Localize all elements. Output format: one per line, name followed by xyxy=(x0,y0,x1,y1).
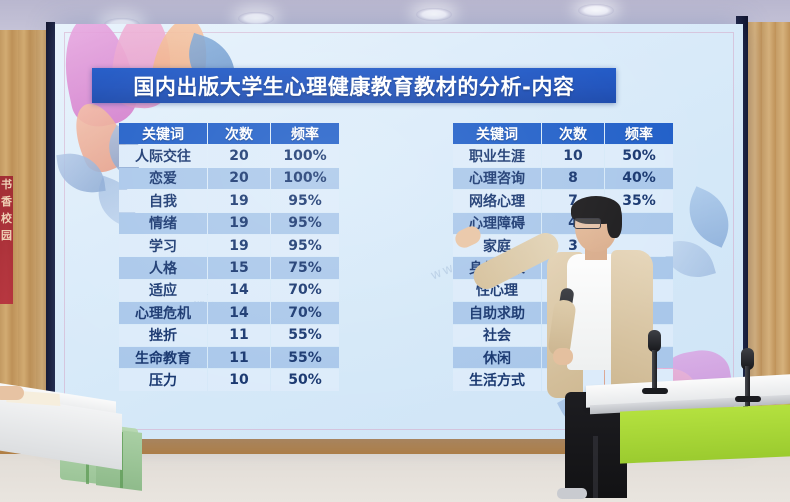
hair xyxy=(607,204,622,238)
cell-count: 20 xyxy=(208,145,270,166)
cell-frequency: 95% xyxy=(271,190,339,211)
cell-frequency: 70% xyxy=(271,280,339,301)
ceiling-light xyxy=(578,4,614,17)
table-row: 心理咨询840% xyxy=(453,168,673,189)
cell-count: 19 xyxy=(208,235,270,256)
cell-count: 8 xyxy=(542,168,604,189)
cell-frequency: 50% xyxy=(271,369,339,390)
cell-keyword: 心理咨询 xyxy=(453,168,541,189)
keyword-table-left: 关键词 次数 频率 人际交往20100%恋爱20100%自我1995%情绪199… xyxy=(118,122,340,392)
leg-split xyxy=(593,436,598,498)
cell-keyword: 人格 xyxy=(119,257,207,278)
cell-frequency: 50% xyxy=(605,145,673,166)
table-row: 学习1995% xyxy=(119,235,339,256)
table-header-row: 关键词 次数 频率 xyxy=(119,123,339,144)
glasses xyxy=(574,218,601,229)
cell-keyword: 自我 xyxy=(119,190,207,211)
cell-keyword: 挫折 xyxy=(119,325,207,346)
column-header-keyword: 关键词 xyxy=(119,123,207,144)
table-row: 适应1470% xyxy=(119,280,339,301)
cell-keyword: 人际交往 xyxy=(119,145,207,166)
cell-count: 14 xyxy=(208,302,270,323)
slide-title-text: 国内出版大学生心理健康教育教材的分析-内容 xyxy=(133,71,574,101)
cell-keyword: 恋爱 xyxy=(119,168,207,189)
table-row: 人格1575% xyxy=(119,257,339,278)
slide-title-banner: 国内出版大学生心理健康教育教材的分析-内容 xyxy=(92,68,616,103)
table-row: 挫折1155% xyxy=(119,325,339,346)
cell-keyword: 适应 xyxy=(119,280,207,301)
column-header-count: 次数 xyxy=(542,123,604,144)
table-row: 情绪1995% xyxy=(119,213,339,234)
microphone-head-icon xyxy=(648,330,661,352)
cell-keyword: 生命教育 xyxy=(119,347,207,368)
hand xyxy=(553,348,573,365)
cell-frequency: 75% xyxy=(271,257,339,278)
column-header-frequency: 频率 xyxy=(271,123,339,144)
wall-banner: 书 香 校 园 xyxy=(0,176,13,304)
wall-banner-text: 书 香 校 园 xyxy=(0,176,13,244)
table-row: 心理危机1470% xyxy=(119,302,339,323)
column-header-count: 次数 xyxy=(208,123,270,144)
column-header-keyword: 关键词 xyxy=(453,123,541,144)
column-header-frequency: 频率 xyxy=(605,123,673,144)
cell-frequency: 95% xyxy=(271,235,339,256)
table-row: 生命教育1155% xyxy=(119,347,339,368)
table-header-row: 关键词 次数 频率 xyxy=(453,123,673,144)
shoe xyxy=(557,488,587,499)
screen-bezel-left xyxy=(46,22,55,442)
table-row: 人际交往20100% xyxy=(119,145,339,166)
cell-count: 20 xyxy=(208,168,270,189)
screenshot-root: 书 香 校 园 xyxy=(0,0,790,502)
cell-frequency: 70% xyxy=(271,302,339,323)
cell-count: 19 xyxy=(208,190,270,211)
microphone-base xyxy=(642,388,668,394)
audience-hand xyxy=(0,386,24,400)
cell-keyword: 情绪 xyxy=(119,213,207,234)
cell-count: 10 xyxy=(542,145,604,166)
cell-count: 15 xyxy=(208,257,270,278)
cell-frequency: 95% xyxy=(271,213,339,234)
cell-keyword: 职业生涯 xyxy=(453,145,541,166)
cell-count: 11 xyxy=(208,347,270,368)
cell-frequency: 100% xyxy=(271,145,339,166)
cell-keyword: 学习 xyxy=(119,235,207,256)
table-row: 职业生涯1050% xyxy=(453,145,673,166)
microphone-base xyxy=(735,396,761,402)
microphone-pole xyxy=(652,350,657,390)
cell-count: 10 xyxy=(208,369,270,390)
cell-frequency: 40% xyxy=(605,168,673,189)
table-row: 压力1050% xyxy=(119,369,339,390)
cell-frequency: 55% xyxy=(271,347,339,368)
ceiling-light xyxy=(416,8,452,21)
cell-frequency: 100% xyxy=(271,168,339,189)
cell-count: 11 xyxy=(208,325,270,346)
cell-count: 19 xyxy=(208,213,270,234)
cell-count: 14 xyxy=(208,280,270,301)
table-row: 恋爱20100% xyxy=(119,168,339,189)
green-table-panel xyxy=(620,404,790,463)
table-row: 自我1995% xyxy=(119,190,339,211)
cell-keyword: 压力 xyxy=(119,369,207,390)
jacket-right-panel xyxy=(611,250,653,402)
cell-frequency: 55% xyxy=(271,325,339,346)
cell-keyword: 心理危机 xyxy=(119,302,207,323)
